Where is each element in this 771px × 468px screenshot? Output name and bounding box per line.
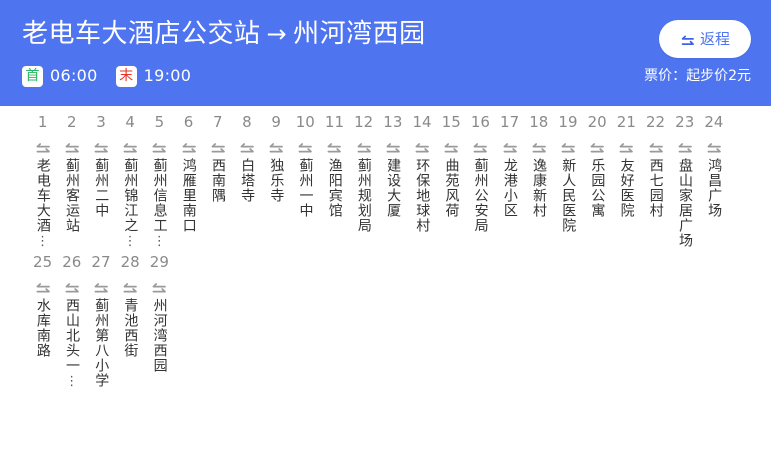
swap-arrows-icon [472, 141, 488, 155]
stop-index: 3 [96, 112, 106, 132]
stop-name: 老电车大酒 [34, 158, 51, 233]
stop-name-truncation: ⋮ [124, 236, 137, 247]
stop-name: 蓟州规划局 [355, 158, 372, 233]
swap-arrows-icon [648, 141, 664, 155]
swap-arrows-icon [443, 141, 459, 155]
stop-index: 8 [242, 112, 252, 132]
stop-index: 25 [33, 252, 52, 272]
stop-index: 17 [500, 112, 519, 132]
stop-name: 盘山家居广场 [676, 158, 693, 248]
stop-column[interactable]: 13建设大厦 [378, 112, 407, 218]
stop-name: 鸿昌广场 [706, 158, 723, 218]
stop-name: 龙港小区 [501, 158, 518, 218]
stop-name: 独乐寺 [268, 158, 285, 203]
stop-name: 友好医院 [618, 158, 635, 218]
stop-index: 20 [588, 112, 607, 132]
swap-arrows-icon [93, 281, 109, 295]
swap-arrows-icon [414, 141, 430, 155]
swap-arrows-icon [706, 141, 722, 155]
stop-column[interactable]: 27蓟州第八小学 [86, 252, 115, 388]
stop-name: 蓟州公安局 [472, 158, 489, 233]
stop-index: 28 [121, 252, 140, 272]
swap-arrows-icon [297, 141, 313, 155]
stop-column[interactable]: 2蓟州客运站 [57, 112, 86, 233]
stop-column[interactable]: 12蓟州规划局 [349, 112, 378, 233]
stop-column[interactable]: 19新人民医院 [553, 112, 582, 233]
stop-index: 19 [558, 112, 577, 132]
stop-index: 11 [325, 112, 344, 132]
swap-arrows-icon [64, 141, 80, 155]
stop-name: 水库南路 [34, 298, 51, 358]
first-bus-time: 06:00 [50, 68, 98, 84]
stop-index: 6 [184, 112, 194, 132]
swap-arrows-icon [502, 141, 518, 155]
stop-index: 5 [155, 112, 165, 132]
stop-column[interactable]: 24鸿昌广场 [699, 112, 728, 218]
stop-index: 15 [442, 112, 461, 132]
swap-arrows-icon [326, 141, 342, 155]
stop-index: 7 [213, 112, 223, 132]
swap-arrows-icon [93, 141, 109, 155]
swap-arrows-icon [677, 141, 693, 155]
stop-name-truncation: ⋮ [36, 236, 49, 247]
stop-index: 12 [354, 112, 373, 132]
swap-arrows-icon [122, 281, 138, 295]
swap-arrows-icon [268, 141, 284, 155]
stop-name: 蓟州二中 [93, 158, 110, 218]
stop-column[interactable]: 16蓟州公安局 [466, 112, 495, 233]
stop-index: 16 [471, 112, 490, 132]
last-bus-badge: 末 [116, 66, 137, 87]
swap-arrows-icon [35, 141, 51, 155]
stop-column[interactable]: 6鸿雁里南口 [174, 112, 203, 233]
stop-column[interactable]: 1老电车大酒⋮ [28, 112, 57, 247]
stop-name: 蓟州锦江之 [122, 158, 139, 233]
stop-index: 4 [125, 112, 135, 132]
stop-index: 2 [67, 112, 77, 132]
stop-index: 9 [271, 112, 281, 132]
swap-arrows-icon [618, 141, 634, 155]
route-header: 老电车大酒店公交站→州河湾西园 返程 首 06:00 末 19:00 票价：起步… [0, 0, 771, 106]
stop-column[interactable]: 11渔阳宾馆 [320, 112, 349, 218]
stop-index: 29 [150, 252, 169, 272]
stop-name: 西七园村 [647, 158, 664, 218]
direction-arrow-icon: → [261, 17, 294, 51]
stop-name-truncation: ⋮ [153, 236, 166, 247]
first-bus-badge: 首 [22, 66, 43, 87]
swap-arrows-icon [35, 281, 51, 295]
stop-index: 13 [383, 112, 402, 132]
stop-index: 26 [62, 252, 81, 272]
stop-column[interactable]: 28青池西街 [116, 252, 145, 358]
page-title: 老电车大酒店公交站→州河湾西园 [22, 17, 426, 51]
stop-name: 渔阳宾馆 [326, 158, 343, 218]
swap-arrows-icon [560, 141, 576, 155]
swap-arrows-icon [181, 141, 197, 155]
stop-name: 曲苑风荷 [443, 158, 460, 218]
swap-arrows-icon [64, 281, 80, 295]
route-origin: 老电车大酒店公交站 [22, 19, 261, 49]
stop-name: 西南隅 [209, 158, 226, 203]
stop-name: 建设大厦 [385, 158, 402, 218]
stop-column[interactable]: 5蓟州信息工⋮ [145, 112, 174, 247]
stop-column[interactable]: 25水库南路 [28, 252, 57, 358]
swap-arrows-icon [356, 141, 372, 155]
stop-name: 新人民医院 [560, 158, 577, 233]
stop-column[interactable]: 3蓟州二中 [86, 112, 115, 218]
stop-column[interactable]: 17龙港小区 [495, 112, 524, 218]
stop-name: 蓟州一中 [297, 158, 314, 218]
swap-arrows-icon [589, 141, 605, 155]
stop-index: 14 [412, 112, 431, 132]
return-button-label: 返程 [700, 32, 730, 47]
stop-index: 22 [646, 112, 665, 132]
stop-column[interactable]: 14环保地球村 [407, 112, 436, 233]
route-destination: 州河湾西园 [293, 19, 426, 49]
stop-name: 环保地球村 [414, 158, 431, 233]
stop-index: 10 [296, 112, 315, 132]
stop-index: 23 [675, 112, 694, 132]
stop-column[interactable]: 21友好医院 [612, 112, 641, 218]
stop-name: 白塔寺 [239, 158, 256, 203]
stop-name: 逸康新村 [531, 158, 548, 218]
swap-arrows-icon [122, 141, 138, 155]
swap-arrows-icon [210, 141, 226, 155]
stop-column[interactable]: 8白塔寺 [232, 112, 261, 203]
stop-index: 1 [38, 112, 48, 132]
stops-row-1: 1老电车大酒⋮2蓟州客运站3蓟州二中4蓟州锦江之⋮5蓟州信息工⋮6鸿雁里南口7西… [0, 112, 771, 248]
stop-index: 21 [617, 112, 636, 132]
stop-column[interactable]: 26西山北头一⋮ [57, 252, 86, 387]
stop-name: 西山北头一 [64, 298, 81, 373]
stop-column[interactable]: 29州河湾西园 [145, 252, 174, 373]
fare-info: 票价：起步价2元 [644, 68, 751, 84]
stop-column[interactable]: 9独乐寺 [262, 112, 291, 203]
last-bus-time: 19:00 [144, 68, 192, 84]
stop-name: 蓟州信息工 [151, 158, 168, 233]
bus-route-page: 老电车大酒店公交站→州河湾西园 返程 首 06:00 末 19:00 票价：起步… [0, 0, 771, 468]
return-direction-button[interactable]: 返程 [659, 20, 751, 58]
swap-arrows-icon [385, 141, 401, 155]
service-hours: 首 06:00 末 19:00 [22, 64, 209, 88]
stop-name: 乐园公寓 [589, 158, 606, 218]
stop-name: 州河湾西园 [151, 298, 168, 373]
stop-index: 24 [704, 112, 723, 132]
stop-name: 蓟州客运站 [64, 158, 81, 233]
stop-name: 蓟州第八小学 [93, 298, 110, 388]
stop-column[interactable]: 18逸康新村 [524, 112, 553, 218]
stop-name-truncation: ⋮ [65, 376, 78, 387]
stops-area: 1老电车大酒⋮2蓟州客运站3蓟州二中4蓟州锦江之⋮5蓟州信息工⋮6鸿雁里南口7西… [0, 106, 771, 468]
stop-index: 27 [91, 252, 110, 272]
stop-name: 鸿雁里南口 [180, 158, 197, 233]
swap-arrows-icon [151, 141, 167, 155]
stops-row-2: 25水库南路26西山北头一⋮27蓟州第八小学28青池西街29州河湾西园 [0, 252, 771, 388]
stop-index: 18 [529, 112, 548, 132]
swap-arrows-icon [151, 281, 167, 295]
stop-column[interactable]: 7西南隅 [203, 112, 232, 203]
swap-arrows-icon [239, 141, 255, 155]
swap-arrows-icon [531, 141, 547, 155]
stop-column[interactable]: 4蓟州锦江之⋮ [116, 112, 145, 247]
stop-column[interactable]: 15曲苑风荷 [437, 112, 466, 218]
stop-column[interactable]: 23盘山家居广场 [670, 112, 699, 248]
stop-column[interactable]: 20乐园公寓 [583, 112, 612, 218]
swap-arrows-icon [680, 33, 695, 46]
stop-column[interactable]: 22西七园村 [641, 112, 670, 218]
stop-name: 青池西街 [122, 298, 139, 358]
stop-column[interactable]: 10蓟州一中 [291, 112, 320, 218]
